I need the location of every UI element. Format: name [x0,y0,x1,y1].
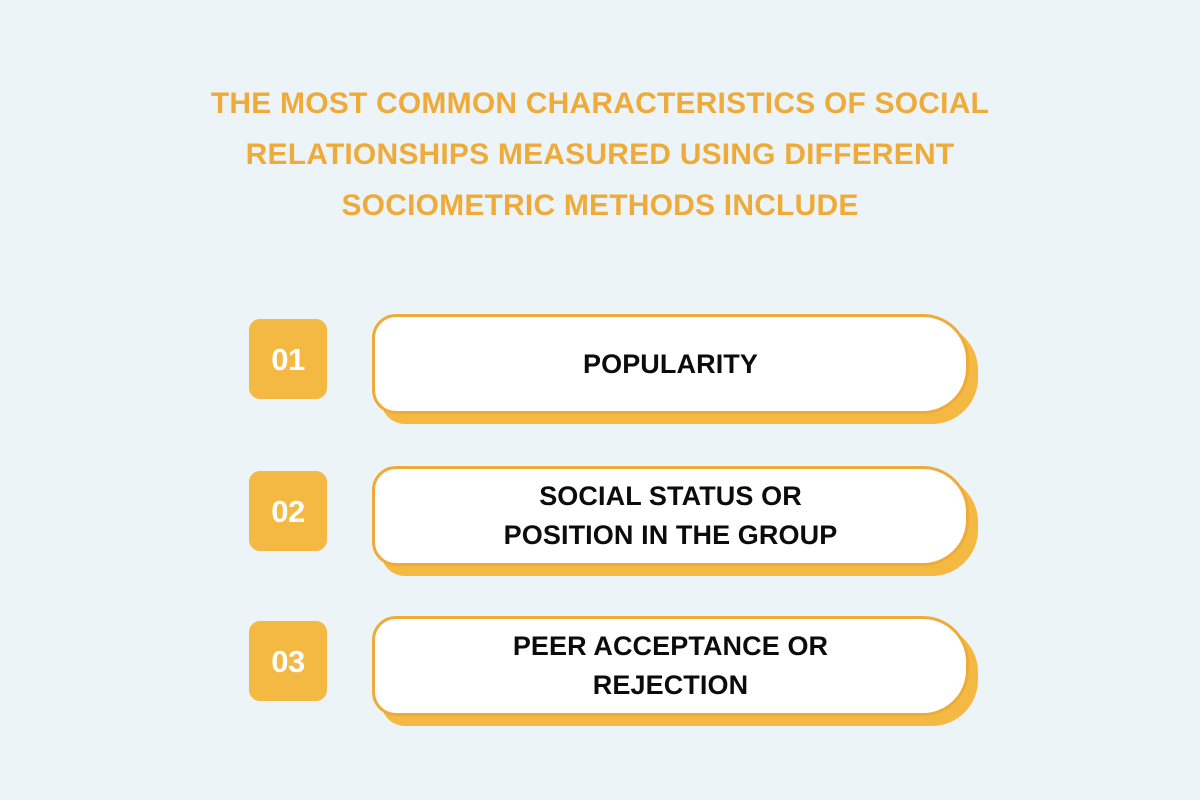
item-card-wrapper: SOCIAL STATUS OR POSITION IN THE GROUP [372,466,969,566]
item-card-wrapper: POPULARITY [372,314,969,414]
item-card-text-line: REJECTION [513,666,828,705]
list-item[interactable]: 01 POPULARITY [249,314,969,414]
item-number-badge: 02 [249,471,327,551]
infographic-canvas: THE MOST COMMON CHARACTERISTICS OF SOCIA… [0,0,1200,800]
item-number-badge: 01 [249,319,327,399]
item-card[interactable]: PEER ACCEPTANCE OR REJECTION [372,616,969,716]
item-number-label: 03 [271,646,304,677]
item-card-text-line: PEER ACCEPTANCE OR [513,627,828,666]
item-card[interactable]: SOCIAL STATUS OR POSITION IN THE GROUP [372,466,969,566]
characteristics-list: 01 POPULARITY 02 SOCIAL STATUS O [0,0,1200,800]
item-number-badge: 03 [249,621,327,701]
item-card-text: PEER ACCEPTANCE OR REJECTION [513,627,828,705]
item-card-text-line: SOCIAL STATUS OR [504,477,838,516]
item-card-text-line: POPULARITY [583,345,758,384]
item-card[interactable]: POPULARITY [372,314,969,414]
item-card-text: POPULARITY [583,345,758,384]
list-item[interactable]: 03 PEER ACCEPTANCE OR REJECTION [249,616,969,716]
item-card-wrapper: PEER ACCEPTANCE OR REJECTION [372,616,969,716]
list-item[interactable]: 02 SOCIAL STATUS OR POSITION IN THE GROU… [249,466,969,566]
item-card-text-line: POSITION IN THE GROUP [504,516,838,555]
item-number-label: 01 [271,344,304,375]
item-number-label: 02 [271,496,304,527]
item-card-text: SOCIAL STATUS OR POSITION IN THE GROUP [504,477,838,555]
